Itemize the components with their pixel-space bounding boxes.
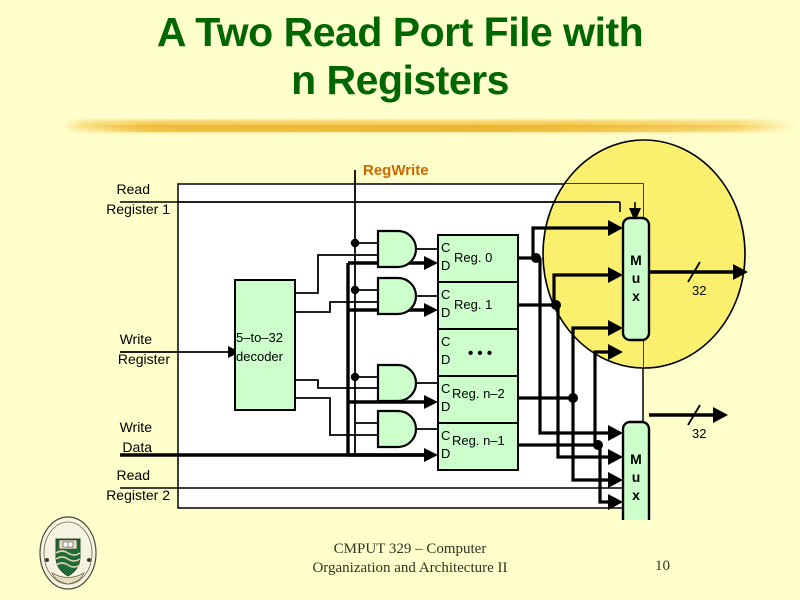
register-0-label: Reg. 0 — [454, 250, 492, 265]
register-n2-data-pin: D — [441, 399, 450, 414]
input-label-read-register-1-line2: Register 1 — [106, 201, 170, 217]
mux2-letter-u: u — [632, 469, 641, 485]
input-label-read-register-1-line1: Read — [117, 181, 150, 197]
decoder-label-line1: 5–to–32 — [236, 330, 283, 345]
and-gate-reg-n1 — [378, 411, 416, 447]
input-label-write-data-line2: Data — [122, 439, 152, 455]
footer: CMPUT 329 – Computer Organization and Ar… — [200, 540, 620, 578]
and-gate-reg1 — [378, 278, 416, 314]
mux2-letter-m: M — [630, 451, 642, 467]
input-label-read-register-2-line2: Register 2 — [106, 487, 170, 503]
read-data-1-width-label: 32 — [692, 283, 706, 298]
register-0-data-pin: D — [441, 258, 450, 273]
read-data-2-width-label: 32 — [692, 426, 706, 441]
mux1-letter-u: u — [632, 270, 641, 286]
and-gate-reg0 — [378, 231, 416, 267]
register-0-clock-pin: C — [441, 240, 450, 255]
title-line-2: n Registers — [0, 56, 800, 104]
page-number: 10 — [655, 558, 715, 575]
input-label-write-data-line1: Write — [120, 419, 153, 435]
and-gate-reg-n2 — [378, 365, 416, 401]
footer-line-2: Organization and Architecture II — [200, 559, 620, 578]
footer-line-1: CMPUT 329 – Computer — [200, 540, 620, 559]
register-1-data-pin: D — [441, 305, 450, 320]
input-label-write-register-line2: Register — [118, 351, 170, 367]
read-data-2-output-arrow — [713, 407, 728, 423]
input-label-write-register-line1: Write — [120, 331, 153, 347]
register-1-label: Reg. 1 — [454, 297, 492, 312]
decoder-label-line2: decoder — [236, 349, 284, 364]
register-n2-label: Reg. n–2 — [452, 386, 505, 401]
regwrite-label: RegWrite — [363, 162, 429, 179]
mux1-letter-m: M — [630, 252, 642, 268]
mux2-letter-x: x — [632, 487, 640, 503]
university-of-alberta-logo — [38, 515, 98, 591]
register-mid-clock-pin: C — [441, 334, 450, 349]
register-1-clock-pin: C — [441, 287, 450, 302]
slide-canvas: A Two Read Port File with n Registers 5–… — [0, 0, 800, 600]
decoder-block — [235, 280, 295, 410]
input-label-read-register-2-line1: Read — [117, 467, 150, 483]
page-title: A Two Read Port File with n Registers — [0, 8, 800, 104]
register-n1-label: Reg. n–1 — [452, 433, 505, 448]
register-mid-data-pin: D — [441, 352, 450, 367]
register-mid-label: • • • — [468, 345, 492, 362]
register-n2-clock-pin: C — [441, 381, 450, 396]
mux1-letter-x: x — [632, 288, 640, 304]
register-n1-data-pin: D — [441, 446, 450, 461]
register-n1-clock-pin: C — [441, 428, 450, 443]
register-file-diagram: 5–to–32 decoder — [0, 130, 800, 520]
title-line-1: A Two Read Port File with — [0, 8, 800, 56]
